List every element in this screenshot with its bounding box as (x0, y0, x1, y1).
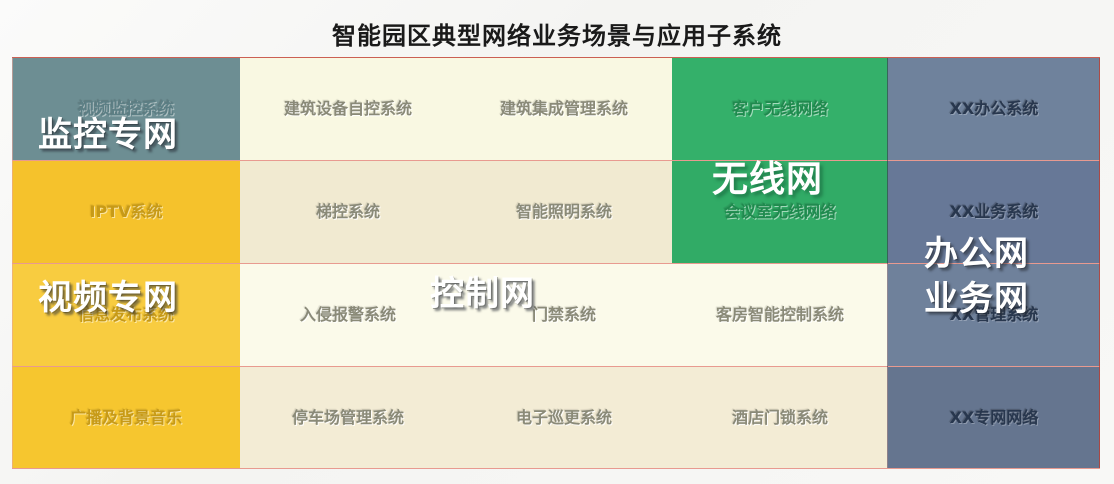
grid-bottom-border (12, 468, 1100, 469)
cell-label: 停车场管理系统 (292, 408, 404, 427)
cell-label: 信息发布系统 (78, 305, 174, 324)
cell-label: 视频监控系统 (78, 99, 174, 118)
cell-label: 门禁系统 (532, 305, 596, 324)
cell-label: 客户无线网络 (732, 99, 828, 118)
row-divider-2 (12, 263, 1100, 264)
cell-xx-office-system[interactable]: XX办公系统 (888, 58, 1100, 160)
cell-building-equipment-automation[interactable]: 建筑设备自控系统 (240, 58, 456, 160)
cell-label: 入侵报警系统 (300, 305, 396, 324)
cell-xx-management-system[interactable]: XX管理系统 (888, 264, 1100, 366)
cell-label: 酒店门锁系统 (732, 408, 828, 427)
cell-label: 客房智能控制系统 (716, 305, 844, 324)
cell-broadcast-background-music[interactable]: 广播及背景音乐 (12, 367, 240, 468)
cell-meeting-room-wireless-network[interactable]: 会议室无线网络 (672, 161, 888, 263)
cell-label: 梯控系统 (316, 202, 380, 221)
cell-guestroom-intelligent-control-system[interactable]: 客房智能控制系统 (672, 264, 888, 366)
grid-left-border (12, 58, 13, 468)
cell-xx-business-system[interactable]: XX业务系统 (888, 161, 1100, 263)
cell-guest-wireless-network[interactable]: 客户无线网络 (672, 58, 888, 160)
cell-label: IPTV系统 (90, 202, 163, 221)
cell-hotel-door-lock-system[interactable]: 酒店门锁系统 (672, 367, 888, 468)
cell-label: XX业务系统 (950, 202, 1039, 221)
cell-label: 广播及背景音乐 (70, 408, 182, 427)
cell-label: 会议室无线网络 (724, 202, 836, 221)
cell-label: 智能照明系统 (516, 202, 612, 221)
grid-top-border (12, 57, 1100, 58)
cell-access-control-system[interactable]: 门禁系统 (456, 264, 672, 366)
cell-label: XX办公系统 (950, 99, 1039, 118)
cell-intrusion-alarm-system[interactable]: 入侵报警系统 (240, 264, 456, 366)
row-divider-3 (12, 366, 1100, 367)
cell-elevator-control-system[interactable]: 梯控系统 (240, 161, 456, 263)
cell-xx-private-network[interactable]: XX专网网络 (888, 367, 1100, 468)
page-title: 智能园区典型网络业务场景与应用子系统 (0, 16, 1114, 51)
cell-video-surveillance[interactable]: 视频监控系统 (12, 58, 240, 160)
cell-building-integration-management[interactable]: 建筑集成管理系统 (456, 58, 672, 160)
cell-label: 建筑集成管理系统 (500, 99, 628, 118)
cell-label: XX管理系统 (950, 305, 1039, 324)
cell-iptv-system[interactable]: IPTV系统 (12, 161, 240, 263)
systems-matrix: 视频监控系统 建筑设备自控系统 建筑集成管理系统 客户无线网络 XX办公系统 I… (12, 58, 1100, 468)
cell-parking-management-system[interactable]: 停车场管理系统 (240, 367, 456, 468)
office-column-left-border (887, 58, 888, 468)
grid-right-border (1099, 58, 1100, 468)
row-divider-1 (12, 160, 1100, 161)
cell-label: 建筑设备自控系统 (284, 99, 412, 118)
cell-information-publishing-system[interactable]: 信息发布系统 (12, 264, 240, 366)
cell-intelligent-lighting-system[interactable]: 智能照明系统 (456, 161, 672, 263)
cell-electronic-patrol-system[interactable]: 电子巡更系统 (456, 367, 672, 468)
cell-label: XX专网网络 (950, 408, 1039, 427)
cell-label: 电子巡更系统 (516, 408, 612, 427)
